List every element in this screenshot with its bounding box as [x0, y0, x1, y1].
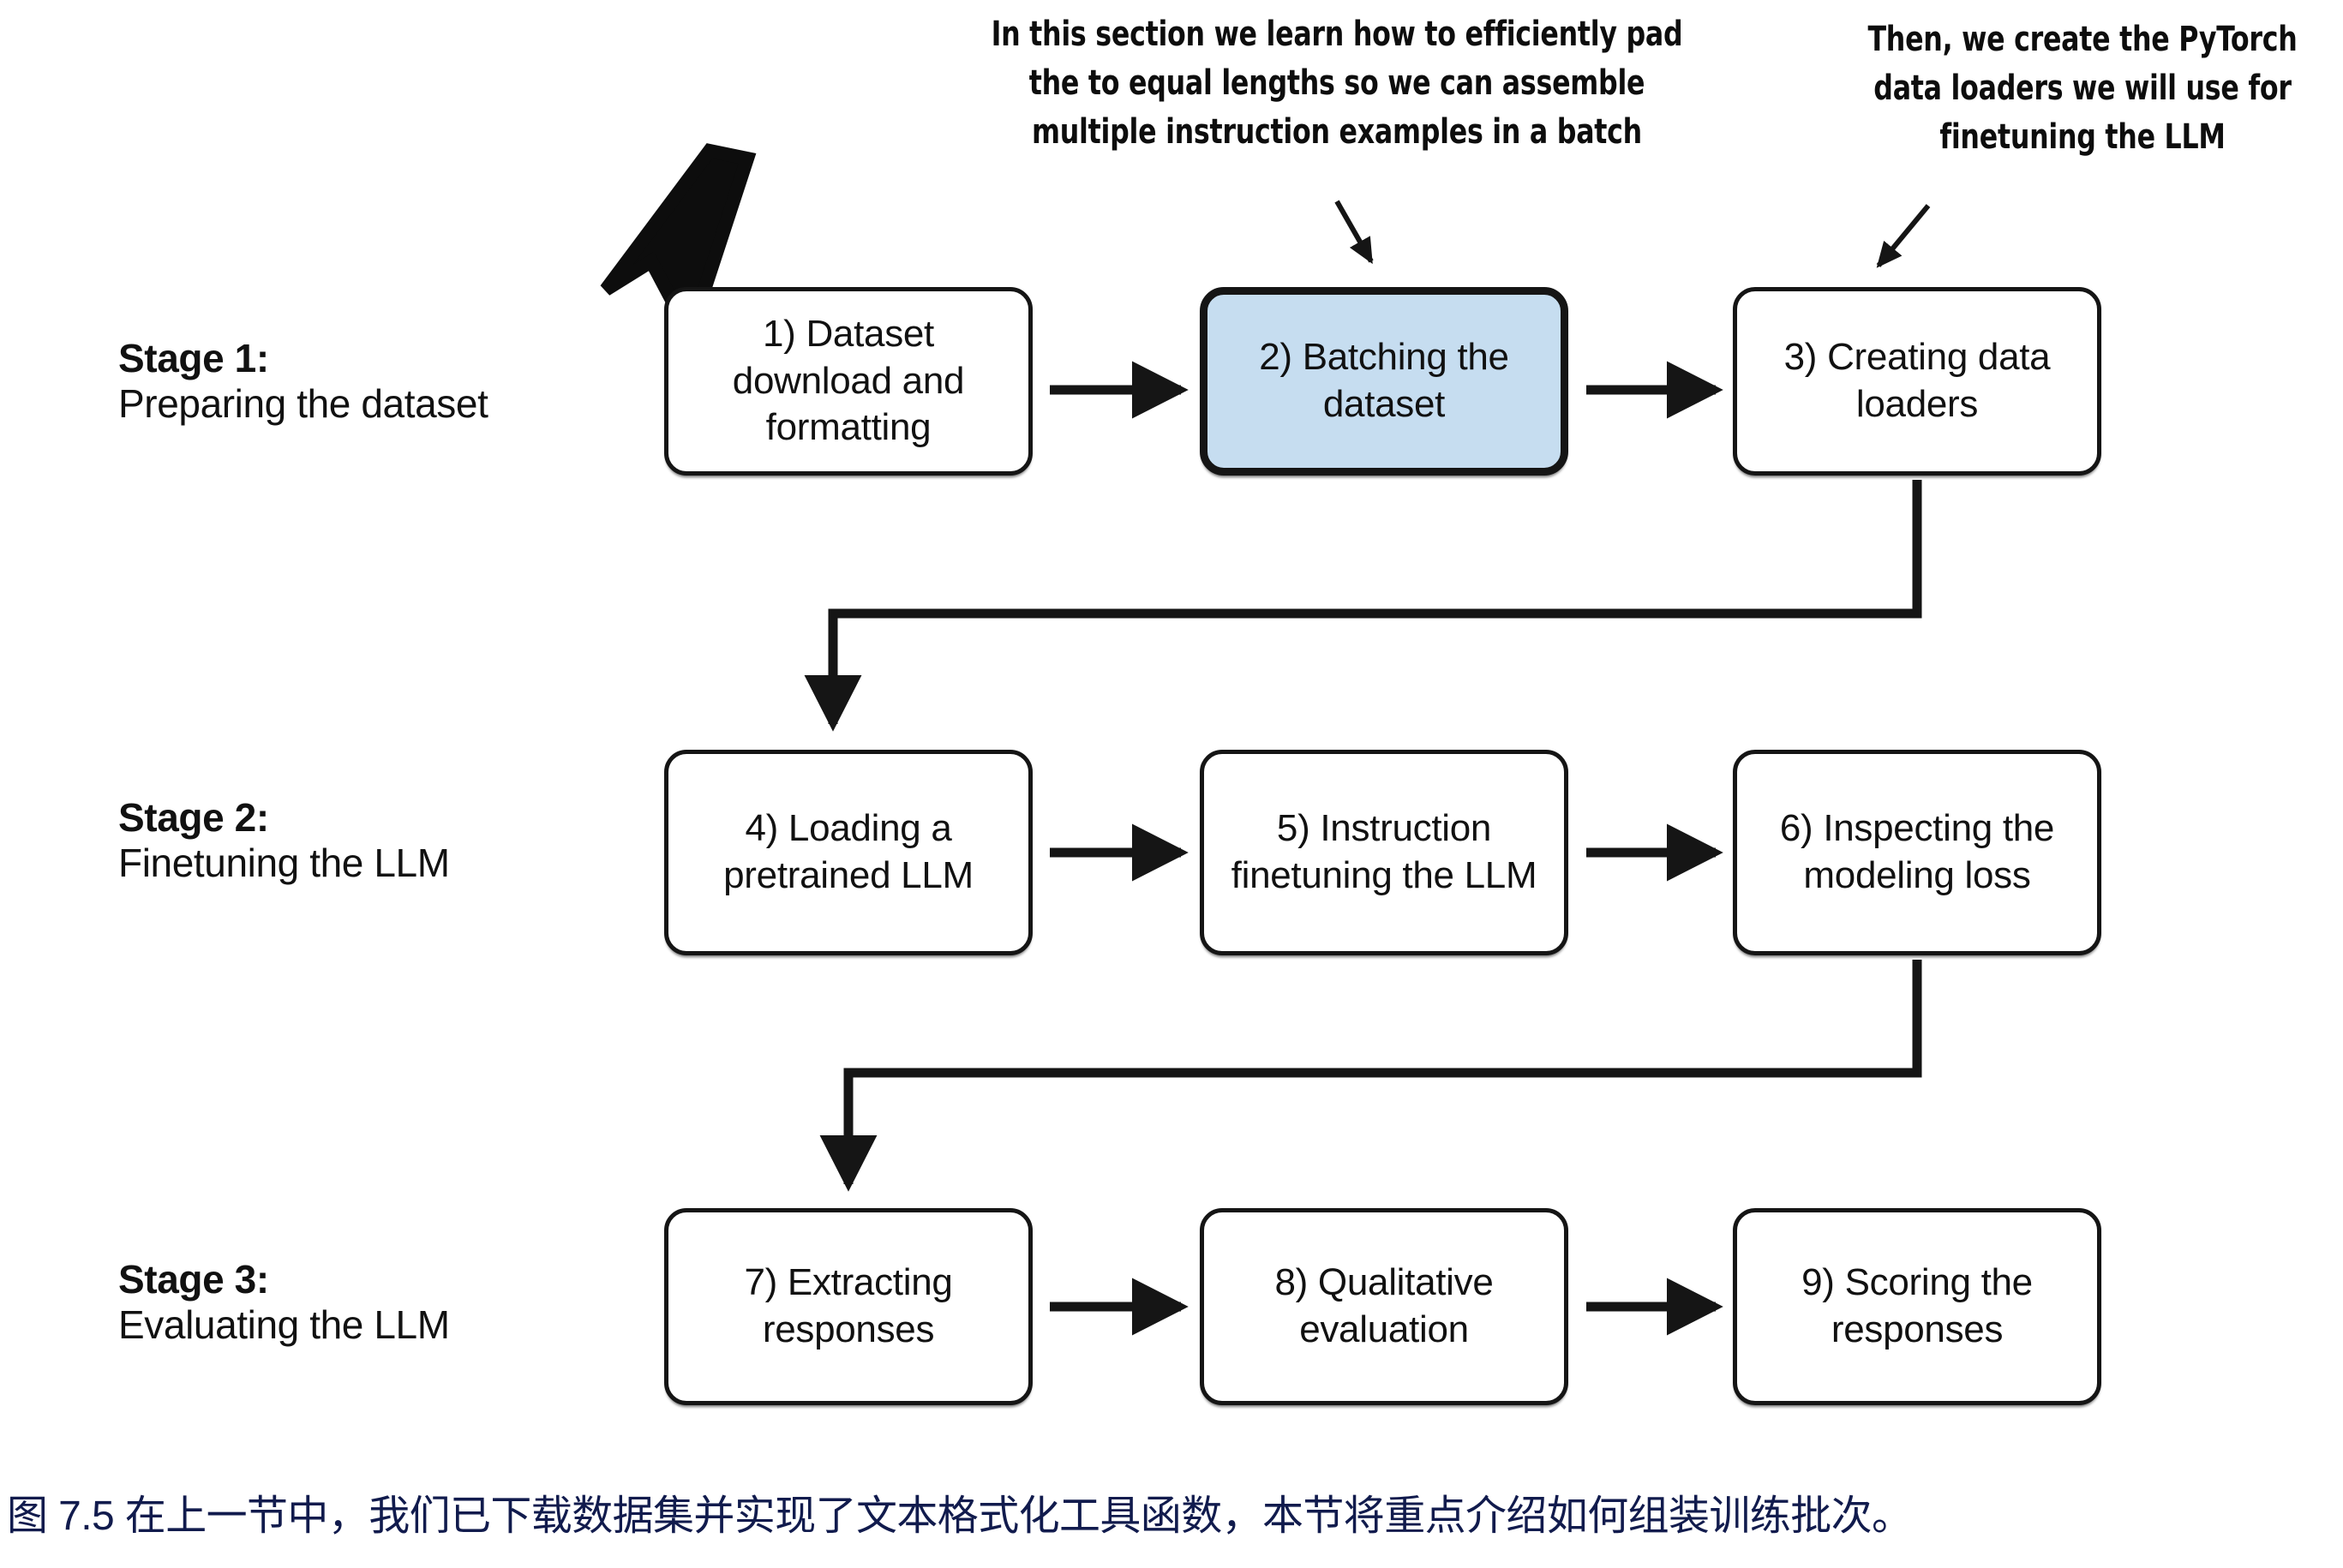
annotation-pointer-dataloaders: [1879, 206, 1928, 266]
flow-box-scoring-responses[interactable]: 9) Scoring the responses: [1733, 1208, 2101, 1405]
stage-title: Stage 3:: [118, 1257, 667, 1302]
flow-box-label: 9) Scoring the responses: [1747, 1260, 2087, 1353]
annotation-pointer-batching: [1337, 201, 1371, 261]
figure-caption: 图 7.5 在上一节中，我们已下载数据集并实现了文本格式化工具函数，本节将重点介…: [7, 1491, 2338, 1542]
annotation-line: finetuning the LLM: [1856, 113, 2309, 162]
flow-box-batching-dataset[interactable]: 2) Batching the dataset: [1200, 287, 1568, 476]
annotation-line: multiple instruction examples in a batch: [990, 108, 1684, 157]
annotation-line: data loaders we will use for: [1856, 64, 2309, 113]
flow-box-creating-data-loaders[interactable]: 3) Creating data loaders: [1733, 287, 2101, 476]
flow-box-label: 8) Qualitative evaluation: [1214, 1260, 1554, 1353]
annotation-line: the to equal lengths so we can assemble: [990, 59, 1684, 108]
annotation-line: Then, we create the PyTorch: [1856, 15, 2309, 64]
flow-box-label: 3) Creating data loaders: [1747, 334, 2087, 428]
annotation-dataloaders: Then, we create the PyTorch data loaders…: [1856, 15, 2309, 161]
stage-label-1: Stage 1: Preparing the dataset: [118, 336, 667, 428]
stage-subtitle: Preparing the dataset: [118, 381, 667, 427]
stage-title: Stage 2:: [118, 795, 667, 841]
flow-box-label: 2) Batching the dataset: [1218, 334, 1550, 428]
annotation-batching: In this section we learn how to efficien…: [990, 10, 1684, 156]
flow-box-label: 1) Dataset download and formatting: [679, 311, 1018, 452]
arrow-3-to-4: [833, 480, 1917, 724]
flow-box-loading-pretrained-llm[interactable]: 4) Loading a pretrained LLM: [664, 750, 1033, 955]
flow-box-instruction-finetuning[interactable]: 5) Instruction finetuning the LLM: [1200, 750, 1568, 955]
flow-box-qualitative-evaluation[interactable]: 8) Qualitative evaluation: [1200, 1208, 1568, 1405]
flow-box-label: 5) Instruction finetuning the LLM: [1214, 805, 1554, 899]
flow-box-label: 4) Loading a pretrained LLM: [679, 805, 1018, 899]
arrow-6-to-7: [848, 960, 1917, 1184]
stage-label-2: Stage 2: Finetuning the LLM: [118, 795, 667, 887]
stage-subtitle: Evaluating the LLM: [118, 1302, 667, 1348]
flow-box-inspecting-modeling-loss[interactable]: 6) Inspecting the modeling loss: [1733, 750, 2101, 955]
flow-box-dataset-download[interactable]: 1) Dataset download and formatting: [664, 287, 1033, 476]
figure-canvas: In this section we learn how to efficien…: [0, 0, 2343, 1568]
flow-box-extracting-responses[interactable]: 7) Extracting responses: [664, 1208, 1033, 1405]
flow-box-label: 7) Extracting responses: [679, 1260, 1018, 1353]
stage-subtitle: Finetuning the LLM: [118, 841, 667, 886]
stage-title: Stage 1:: [118, 336, 667, 381]
annotation-line: In this section we learn how to efficien…: [990, 10, 1684, 59]
flow-box-label: 6) Inspecting the modeling loss: [1747, 805, 2087, 899]
stage-label-3: Stage 3: Evaluating the LLM: [118, 1257, 667, 1349]
